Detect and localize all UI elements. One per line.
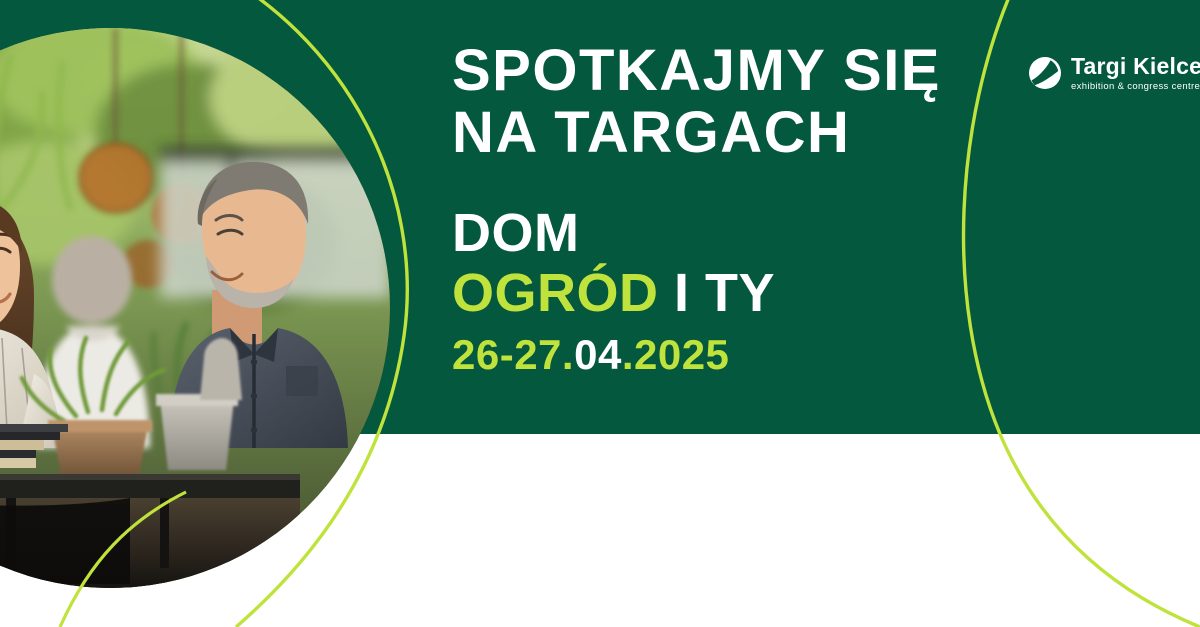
event-name-line-2: OGRÓD I TY xyxy=(452,264,1072,322)
event-name-ogrod: OGRÓD xyxy=(452,263,659,323)
headline: SPOTKAJMY SIĘ NA TARGACH xyxy=(452,40,1012,164)
logo-tagline: exhibition & congress centre xyxy=(1071,81,1200,93)
targi-kielce-logo[interactable]: Targi Kielce exhibition & congress centr… xyxy=(1028,54,1200,93)
event-name-line-1: DOM xyxy=(452,204,1072,262)
event-title-block: DOM OGRÓD I TY 26-27.04.2025 xyxy=(452,204,1072,378)
headline-line-2: NA TARGACH xyxy=(452,102,1012,164)
promo-banner: SPOTKAJMY SIĘ NA TARGACH DOM OGRÓD I TY … xyxy=(0,0,1200,627)
logo-text-block: Targi Kielce exhibition & congress centr… xyxy=(1071,54,1200,93)
targi-kielce-sphere-icon xyxy=(1028,56,1062,90)
event-name-ity: I TY xyxy=(659,263,776,323)
logo-name: Targi Kielce xyxy=(1071,54,1200,79)
headline-line-1: SPOTKAJMY SIĘ xyxy=(452,40,1012,102)
event-dates: 26-27.04.2025 xyxy=(452,332,1072,378)
trade-fair-photo xyxy=(0,28,390,588)
event-dates-month: 04 xyxy=(574,331,622,378)
photo-image xyxy=(0,28,390,588)
event-dates-days: 26-27. xyxy=(452,331,574,378)
photo-illustration xyxy=(0,28,390,588)
event-dates-year: .2025 xyxy=(622,331,730,378)
